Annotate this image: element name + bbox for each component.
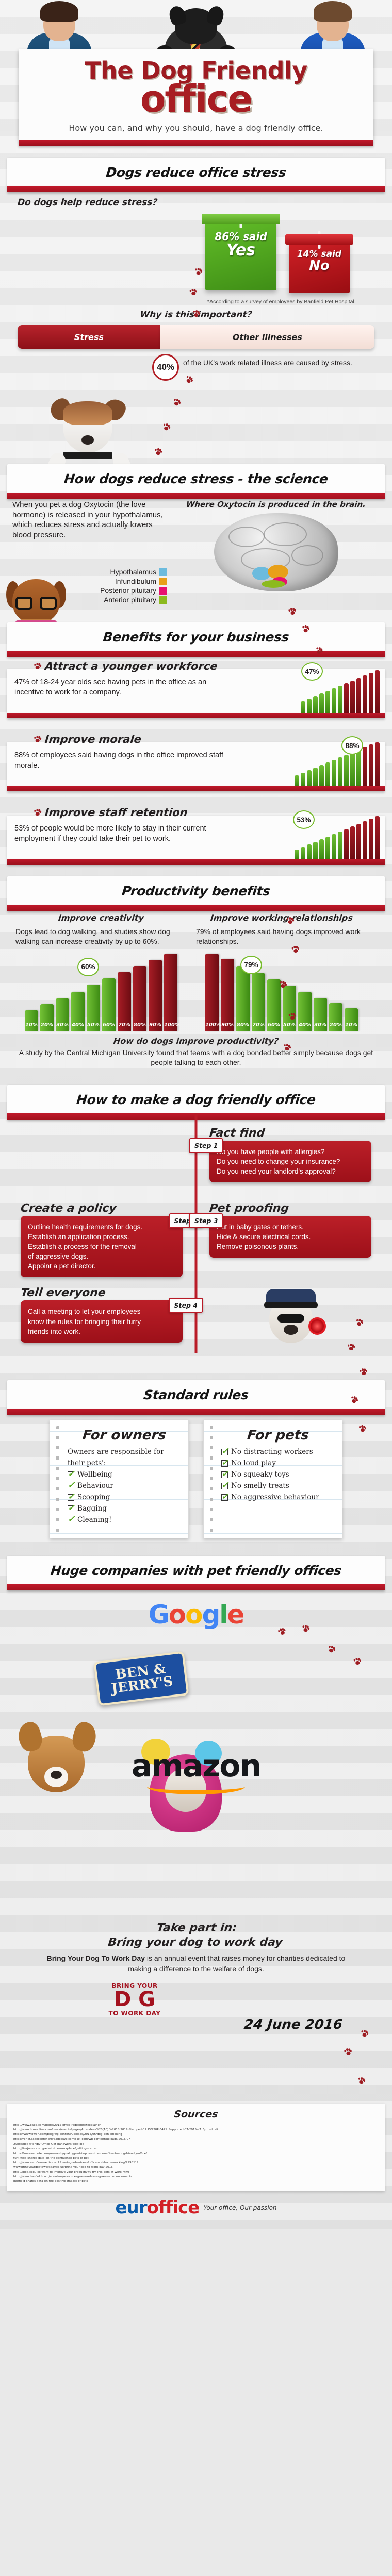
science-paragraph: When you pet a dog Oxytocin (the love ho…: [12, 500, 167, 540]
productivity-note-text: A study by the Central Michigan Universi…: [18, 1048, 374, 1067]
step-3-title: Pet proofing: [209, 1202, 372, 1215]
rules-notepads: For owners Owners are responsible for th…: [0, 1409, 392, 1538]
owners-item-label: Cleaning!: [77, 1514, 111, 1526]
footer: euroffice Your office, Our passion: [0, 2191, 392, 2229]
bar-label: 90%: [221, 1022, 234, 1028]
source-item[interactable]: www.bringyourdogtoworkday.co.uk/bring-yo…: [13, 2165, 379, 2170]
step-line: Outline health requirements for dogs.: [28, 1222, 175, 1232]
bar-label: 100%: [205, 1022, 219, 1028]
owners-intro: Owners are responsible for their pets':: [68, 1446, 181, 1469]
ballot-box-yes: 86% said Yes: [205, 222, 276, 290]
creativity-bars: 10% 20% 30% 40% 50% 60% 70% 80% 90% 100%: [15, 954, 187, 1031]
bar-label: 70%: [252, 1022, 265, 1028]
police-dog-photo: [196, 1286, 385, 1353]
byd-logo-line2: D G: [96, 1989, 173, 2010]
stress-banner-title: Dogs reduce office stress: [11, 165, 380, 180]
step-4-title: Tell everyone: [20, 1286, 184, 1299]
list-item: No smelly treats: [221, 1480, 335, 1492]
google-letter: g: [202, 1600, 219, 1630]
bar-label: 40%: [298, 1022, 312, 1028]
companies-section: Huge companies with pet friendly offices…: [0, 1556, 392, 1916]
source-item[interactable]: http://blog.ceou.co/want-to-improve-your…: [13, 2170, 379, 2175]
step-2: Step 2 Create a policy Outline health re…: [7, 1202, 196, 1278]
notepad-for-pets: For pets No distracting workers No loud …: [203, 1420, 342, 1538]
byd-intro-bold: Bring Your Dog To Work Day: [47, 1954, 145, 1962]
pets-item-label: No aggressive behaviour: [231, 1492, 319, 1503]
step-4-box: Call a meeting to let your employees kno…: [21, 1300, 183, 1342]
productivity-banner: Productivity benefits: [7, 876, 385, 905]
science-body: When you pet a dog Oxytocin (the love ho…: [0, 493, 392, 605]
step-line: Put in baby gates or tethers.: [217, 1222, 364, 1232]
relationships-bar-chart: 79% 100% 90% 80% 70% 60% 50% 40% 30% 20%…: [196, 946, 367, 1031]
step-line: Establish an application process.: [28, 1232, 175, 1242]
rules-banner-title: Standard rules: [11, 1387, 380, 1402]
companies-logos: Google BEN & JERRY'S amazon: [0, 1584, 392, 1899]
benefits-banner: Benefits for your business: [7, 622, 385, 651]
step-line: know the rules for bringing their furry: [28, 1317, 175, 1327]
benefit-text: 47% of 18-24 year olds see having pets i…: [14, 677, 236, 698]
stress-banner: Dogs reduce office stress: [7, 158, 385, 186]
legend-label: Hypothalamus: [110, 568, 157, 576]
owners-item-label: Wellbeing: [77, 1469, 112, 1480]
benefit-body: 47% of 18-24 year olds see having pets i…: [7, 669, 385, 713]
byd-logo-line3: TO WORK DAY: [96, 2010, 173, 2017]
google-letter: e: [227, 1600, 243, 1630]
brain-region-anterior-pituitary: [262, 580, 285, 588]
google-letter: G: [149, 1600, 169, 1630]
owners-item-label: Bagging: [77, 1503, 107, 1514]
companies-banner-title: Huge companies with pet friendly offices: [11, 1563, 380, 1578]
euroffice-tagline: Your office, Our passion: [203, 2204, 276, 2211]
stress-callout: 40% of the UK's work related illness are…: [152, 354, 392, 381]
illness-proportion-bar: Stress Other illnesses: [18, 325, 374, 349]
pets-item-label: No distracting workers: [231, 1446, 313, 1458]
ballot-box-no: 14% said No: [289, 243, 350, 293]
benefits-banner-title: Benefits for your business: [11, 630, 380, 645]
list-item: No aggressive behaviour: [221, 1492, 335, 1503]
check-icon: [221, 1494, 228, 1501]
step-1-tag: Step 1: [189, 1138, 223, 1153]
source-item[interactable]: http://www.banfield.com/about-us/resourc…: [13, 2175, 379, 2179]
step-2-box: Outline health requirements for dogs. Es…: [21, 1216, 183, 1278]
productivity-columns: Improve creativity Dogs lead to dog walk…: [0, 905, 392, 946]
check-icon: [221, 1460, 228, 1467]
creativity-percent-bubble: 60%: [77, 958, 99, 976]
bar-label: 40%: [71, 1022, 85, 1028]
sources-section: Sources http://www.bapp.com/blogs/2015-o…: [0, 2104, 392, 2229]
step-line: Remove poisonous plants.: [217, 1242, 364, 1251]
pets-item-label: No smelly treats: [231, 1480, 289, 1492]
legend-label: Posterior pituitary: [100, 586, 156, 595]
list-item: No distracting workers: [221, 1446, 335, 1458]
science-section: How dogs reduce stress - the science Whe…: [0, 464, 392, 622]
step-empty-left: [7, 1127, 196, 1193]
science-banner: How dogs reduce stress - the science: [7, 464, 385, 493]
paw-icon: [34, 663, 41, 670]
benefit-title: Improve morale: [44, 733, 142, 745]
no-percent: 14% said: [289, 249, 350, 259]
why-important-question: Why is this important?: [0, 310, 392, 320]
step-line: Appoint a pet director.: [28, 1261, 175, 1271]
step-line: Do you need to change your insurance?: [217, 1157, 364, 1166]
rules-section: Standard rules For owners Owners are res…: [0, 1380, 392, 1556]
ben-and-jerrys-logo: BEN & JERRY'S: [93, 1651, 189, 1706]
byd-title: Take part in: Bring your dog to work day: [6, 1921, 386, 1950]
byd-title-line1: Take part in:: [156, 1922, 238, 1935]
byd-title-line2: Bring your dog to work day: [107, 1936, 283, 1949]
source-item[interactable]: turk-field-shares-data-on-the-confluence…: [13, 2156, 379, 2161]
google-letter: o: [169, 1600, 185, 1630]
benefits-section: Benefits for your business Attract a you…: [0, 622, 392, 876]
list-item: Behaviour: [68, 1480, 181, 1492]
science-banner-title: How dogs reduce stress - the science: [11, 471, 380, 486]
step-4: Step 4 Tell everyone Call a meeting to l…: [7, 1286, 196, 1353]
brain-illustration: [214, 513, 338, 591]
step-row-1: Step 1 Fact find Do you have people with…: [7, 1127, 385, 1193]
brain-caption: Where Oxytocin is produced in the brain.: [172, 500, 380, 509]
owners-list: Wellbeing Behaviour Scooping Bagging Cle…: [68, 1469, 181, 1526]
step-line: Do you need your landlord's approval?: [217, 1166, 364, 1176]
relationships-percent-bubble: 79%: [240, 956, 262, 974]
step-4-tag: Step 4: [169, 1298, 203, 1313]
sources-list: http://www.bapp.com/blogs/2015-office-re…: [13, 2123, 379, 2184]
benefit-title: Improve staff retention: [44, 806, 188, 819]
ben-and-jerrys-label: BEN & JERRY'S: [96, 1660, 186, 1697]
productivity-col-text: Dogs lead to dog walking, and studies sh…: [15, 927, 187, 946]
legend-swatch-anterior-pituitary: [159, 596, 167, 604]
amazon-logo: amazon: [7, 1748, 385, 1794]
bar-label: 30%: [56, 1022, 69, 1028]
list-item: Cleaning!: [68, 1514, 181, 1526]
paw-icon: [34, 809, 41, 816]
source-item[interactable]: https://www.owen.com/blog/wp-content/upl…: [13, 2132, 379, 2137]
bar-label: 10%: [25, 1022, 38, 1028]
byd-date: 24 June 2016: [243, 2017, 343, 2032]
header-section: The Dog Friendly office How you can, and…: [0, 0, 392, 158]
creativity-bar-chart: 60% 10% 20% 30% 40% 50% 60% 70% 80% 90% …: [15, 946, 187, 1031]
step-1-title: Fact find: [209, 1127, 372, 1140]
list-item: No loud play: [221, 1458, 335, 1469]
bar-label: 60%: [102, 1022, 116, 1028]
companies-banner: Huge companies with pet friendly offices: [7, 1556, 385, 1584]
list-item: Wellbeing: [68, 1469, 181, 1480]
step-line: Establish a process for the removal: [28, 1242, 175, 1251]
howto-banner-title: How to make a dog friendly office: [11, 1092, 380, 1107]
google-letter: o: [185, 1600, 202, 1630]
byd-content: Take part in: Bring your dog to work day…: [0, 1916, 392, 2086]
benefit-text: 88% of employees said having dogs in the…: [14, 751, 236, 771]
legend-swatch-infundibulum: [159, 578, 167, 585]
bar-label: 50%: [87, 1022, 100, 1028]
notepad-for-owners: For owners Owners are responsible for th…: [50, 1420, 189, 1538]
check-icon: [221, 1471, 228, 1478]
euroffice-office: office: [147, 2197, 200, 2218]
step-row-4: Step 4 Tell everyone Call a meeting to l…: [7, 1286, 385, 1353]
pets-title: For pets: [220, 1428, 335, 1443]
list-item: Scooping: [68, 1492, 181, 1503]
bar-label: 50%: [283, 1022, 296, 1028]
benefit-heading: Attract a younger workforce: [34, 660, 386, 672]
step-3: Step 3 Pet proofing Put in baby gates or…: [196, 1202, 385, 1278]
source-item[interactable]: banfield-shares-data-on-the-positive-imp…: [13, 2179, 379, 2184]
no-label: No: [289, 259, 350, 273]
euroffice-eur: eur: [115, 2197, 146, 2218]
source-item[interactable]: https://brief.asaecenter.org/pages/welco…: [13, 2137, 379, 2142]
byd-logo: BRING YOUR D G TO WORK DAY: [96, 1982, 173, 2050]
amazon-wordmark: amazon: [132, 1748, 260, 1784]
list-item: Bagging: [68, 1503, 181, 1514]
stress-percent-bubble: 40%: [152, 354, 179, 381]
bar-label: 80%: [133, 1022, 146, 1028]
productivity-col-relationships: Improve working relationships 79% of emp…: [196, 913, 367, 946]
byd-intro-rest: is an annual event that raises money for…: [128, 1954, 345, 1973]
pets-list: No distracting workers No loud play No s…: [221, 1446, 335, 1503]
illness-segment-stress: Stress: [18, 325, 160, 349]
check-icon: [68, 1505, 74, 1512]
pets-item-label: No loud play: [231, 1458, 276, 1469]
benefit-card-retention: Improve staff retention 53% of people wo…: [7, 806, 385, 859]
bar-label: 100%: [164, 1022, 177, 1028]
check-icon: [68, 1471, 74, 1478]
benefit-heading: Improve morale: [34, 733, 386, 745]
source-item[interactable]: http://linkjunior.com/pets-in-the-workpl…: [13, 2147, 379, 2151]
productivity-col-title: Improve working relationships: [195, 913, 368, 923]
google-letter: l: [219, 1600, 227, 1630]
step-1-box: Do you have people with allergies? Do yo…: [209, 1141, 371, 1182]
title-card: The Dog Friendly office How you can, and…: [19, 49, 373, 140]
step-row-2: Step 2 Create a policy Outline health re…: [7, 1202, 385, 1278]
source-item[interactable]: https://www.remote.com/research/quality/…: [13, 2151, 379, 2156]
steps-timeline: Step 1 Fact find Do you have people with…: [0, 1113, 392, 1354]
bar-label: 90%: [149, 1022, 162, 1028]
science-text-column: When you pet a dog Oxytocin (the love ho…: [12, 500, 167, 605]
stress-section: Dogs reduce office stress Do dogs help r…: [0, 158, 392, 464]
bar-label: 20%: [40, 1022, 54, 1028]
productivity-banner-title: Productivity benefits: [11, 884, 380, 899]
step-3-tag: Step 3: [189, 1213, 223, 1228]
brain-column: Where Oxytocin is produced in the brain.: [172, 500, 380, 605]
benefit-text: 53% of people would be more likely to st…: [14, 824, 236, 844]
benefit-card-younger-workforce: Attract a younger workforce 47% of 18-24…: [7, 660, 385, 713]
productivity-col-creativity: Improve creativity Dogs lead to dog walk…: [15, 913, 187, 946]
step-1: Step 1 Fact find Do you have people with…: [196, 1127, 385, 1193]
sources-card: Sources http://www.bapp.com/blogs/2015-o…: [7, 2104, 385, 2191]
bar-label: 70%: [118, 1022, 131, 1028]
illness-segment-other: Other illnesses: [160, 325, 374, 349]
bar-label: 20%: [329, 1022, 342, 1028]
legend-swatch-posterior-pituitary: [159, 587, 167, 595]
page-title-line2: office: [24, 81, 368, 117]
check-icon: [68, 1517, 74, 1523]
check-icon: [68, 1483, 74, 1489]
source-item[interactable]: http://www.bapp.com/blogs/2015-office-re…: [13, 2123, 379, 2128]
step-line: Hide & secure electrical cords.: [217, 1232, 364, 1242]
productivity-section: Productivity benefits Improve creativity…: [0, 876, 392, 1084]
paw-icon: [34, 736, 41, 743]
source-item[interactable]: http://www.aeroflowmedia.co.uk/owning-a-…: [13, 2161, 379, 2165]
byd-intro: Bring Your Dog To Work Day is an annual …: [7, 1954, 385, 1974]
step-line: of aggressive dogs.: [28, 1251, 175, 1261]
stress-source-note: *According to a survey of employees by B…: [207, 298, 392, 306]
productivity-charts: 60% 10% 20% 30% 40% 50% 60% 70% 80% 90% …: [0, 946, 392, 1031]
benefit-body: 88% of employees said having dogs in the…: [7, 742, 385, 786]
step-line: Call a meeting to let your employees: [28, 1307, 175, 1316]
benefit-body: 53% of people would be more likely to st…: [7, 816, 385, 859]
owners-item-label: Scooping: [77, 1492, 110, 1503]
legend-swatch-hypothalamus: [159, 568, 167, 576]
bar-label: 60%: [267, 1022, 281, 1028]
productivity-col-text: 79% of employees said having dogs improv…: [196, 927, 367, 946]
benefit-heading: Improve staff retention: [34, 806, 386, 819]
howto-banner: How to make a dog friendly office: [7, 1085, 385, 1113]
pets-item-label: No squeaky toys: [231, 1469, 289, 1480]
rules-banner: Standard rules: [7, 1380, 385, 1409]
stress-callout-text: of the UK's work related illness are cau…: [183, 354, 352, 367]
benefit-card-morale: Improve morale 88% of employees said hav…: [7, 733, 385, 786]
benefit-bar-chart: [295, 742, 380, 786]
ballot-boxes: 86% said Yes 14% said No: [0, 205, 392, 297]
legend-label: Infundibulum: [115, 577, 156, 585]
bar-label: 80%: [236, 1022, 250, 1028]
bar-label: 30%: [314, 1022, 327, 1028]
productivity-question: How do dogs improve productivity?: [113, 1036, 279, 1046]
bar-label: 10%: [345, 1022, 358, 1028]
step-3-box: Put in baby gates or tethers. Hide & sec…: [209, 1216, 371, 1258]
step-line: Do you have people with allergies?: [217, 1147, 364, 1157]
source-item[interactable]: 2yogs/dog-friendly-Office-Get-bandwork/b…: [13, 2142, 379, 2147]
step-line: friends into work.: [28, 1327, 175, 1336]
check-icon: [221, 1449, 228, 1455]
benefit-title: Attract a younger workforce: [44, 660, 218, 672]
euroffice-logo[interactable]: euroffice: [115, 2197, 199, 2218]
productivity-col-title: Improve creativity: [15, 913, 187, 923]
productivity-note: How do dogs improve productivity? A stud…: [0, 1031, 392, 1067]
source-item[interactable]: http://www.hrmonline.com/news/events/pag…: [13, 2128, 379, 2132]
relationships-bars: 100% 90% 80% 70% 60% 50% 40% 30% 20% 10%: [196, 954, 367, 1031]
check-icon: [68, 1494, 74, 1501]
sources-title: Sources: [13, 2109, 379, 2120]
step-2-title: Create a policy: [20, 1202, 184, 1215]
yes-label: Yes: [205, 243, 276, 258]
page-subtitle: How you can, and why you should, have a …: [24, 123, 368, 133]
owners-title: For owners: [67, 1428, 182, 1443]
infographic-page: The Dog Friendly office How you can, and…: [0, 0, 392, 2229]
byd-section: Take part in: Bring your dog to work day…: [0, 1916, 392, 2104]
legend-row: Hypothalamus: [12, 568, 167, 576]
legend-label: Anterior pituitary: [104, 596, 156, 604]
google-logo: Google: [7, 1600, 385, 1630]
list-item: No squeaky toys: [221, 1469, 335, 1480]
check-icon: [221, 1483, 228, 1489]
owners-item-label: Behaviour: [77, 1480, 113, 1492]
howto-section: How to make a dog friendly office Step 1…: [0, 1085, 392, 1381]
